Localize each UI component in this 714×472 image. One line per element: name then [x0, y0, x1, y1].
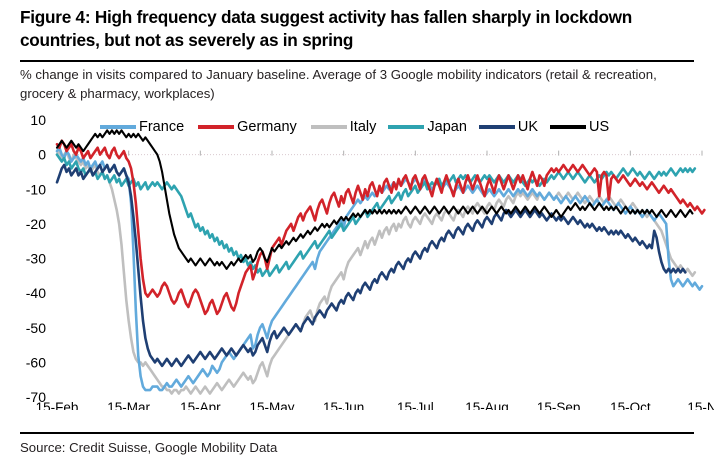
figure-subtitle: % change in visits compared to January b…: [20, 66, 698, 103]
source-divider: [20, 432, 694, 434]
x-axis-tick-label: 15-May: [249, 400, 294, 410]
x-axis-tick-label: 15-Mar: [107, 400, 150, 410]
line-chart: 100-10-20-30-40-50-60-7015-Feb15-Mar15-A…: [0, 110, 714, 410]
series-line-japan: [57, 155, 695, 276]
figure-title: Figure 4: High frequency data suggest ac…: [20, 6, 692, 53]
x-axis-tick-label: 15-Oct: [610, 400, 651, 410]
y-axis-tick-label: -20: [26, 216, 46, 232]
y-axis-tick-label: 0: [38, 147, 46, 163]
y-axis-tick-label: 10: [30, 112, 46, 128]
figure-container: Figure 4: High frequency data suggest ac…: [0, 0, 714, 472]
y-axis-tick-label: -30: [26, 251, 46, 267]
x-axis-tick-label: 15-Jun: [323, 400, 364, 410]
y-axis-tick-label: -40: [26, 285, 46, 301]
x-axis-tick-label: 15-Aug: [465, 400, 509, 410]
x-axis-tick-label: 15-Feb: [36, 400, 79, 410]
y-axis-tick-label: -10: [26, 181, 46, 197]
title-divider: [20, 60, 694, 62]
source-note: Source: Credit Suisse, Google Mobility D…: [20, 440, 277, 455]
plot-area: 100-10-20-30-40-50-60-7015-Feb15-Mar15-A…: [0, 110, 714, 410]
series-line-germany: [57, 141, 704, 314]
x-axis-tick-label: 15-N: [687, 400, 714, 410]
x-axis-tick-label: 15-Sep: [537, 400, 581, 410]
x-axis-tick-label: 15-Apr: [180, 400, 221, 410]
x-axis-tick-label: 15-Jul: [397, 400, 434, 410]
y-axis-tick-label: -50: [26, 320, 46, 336]
y-axis-tick-label: -60: [26, 354, 46, 370]
